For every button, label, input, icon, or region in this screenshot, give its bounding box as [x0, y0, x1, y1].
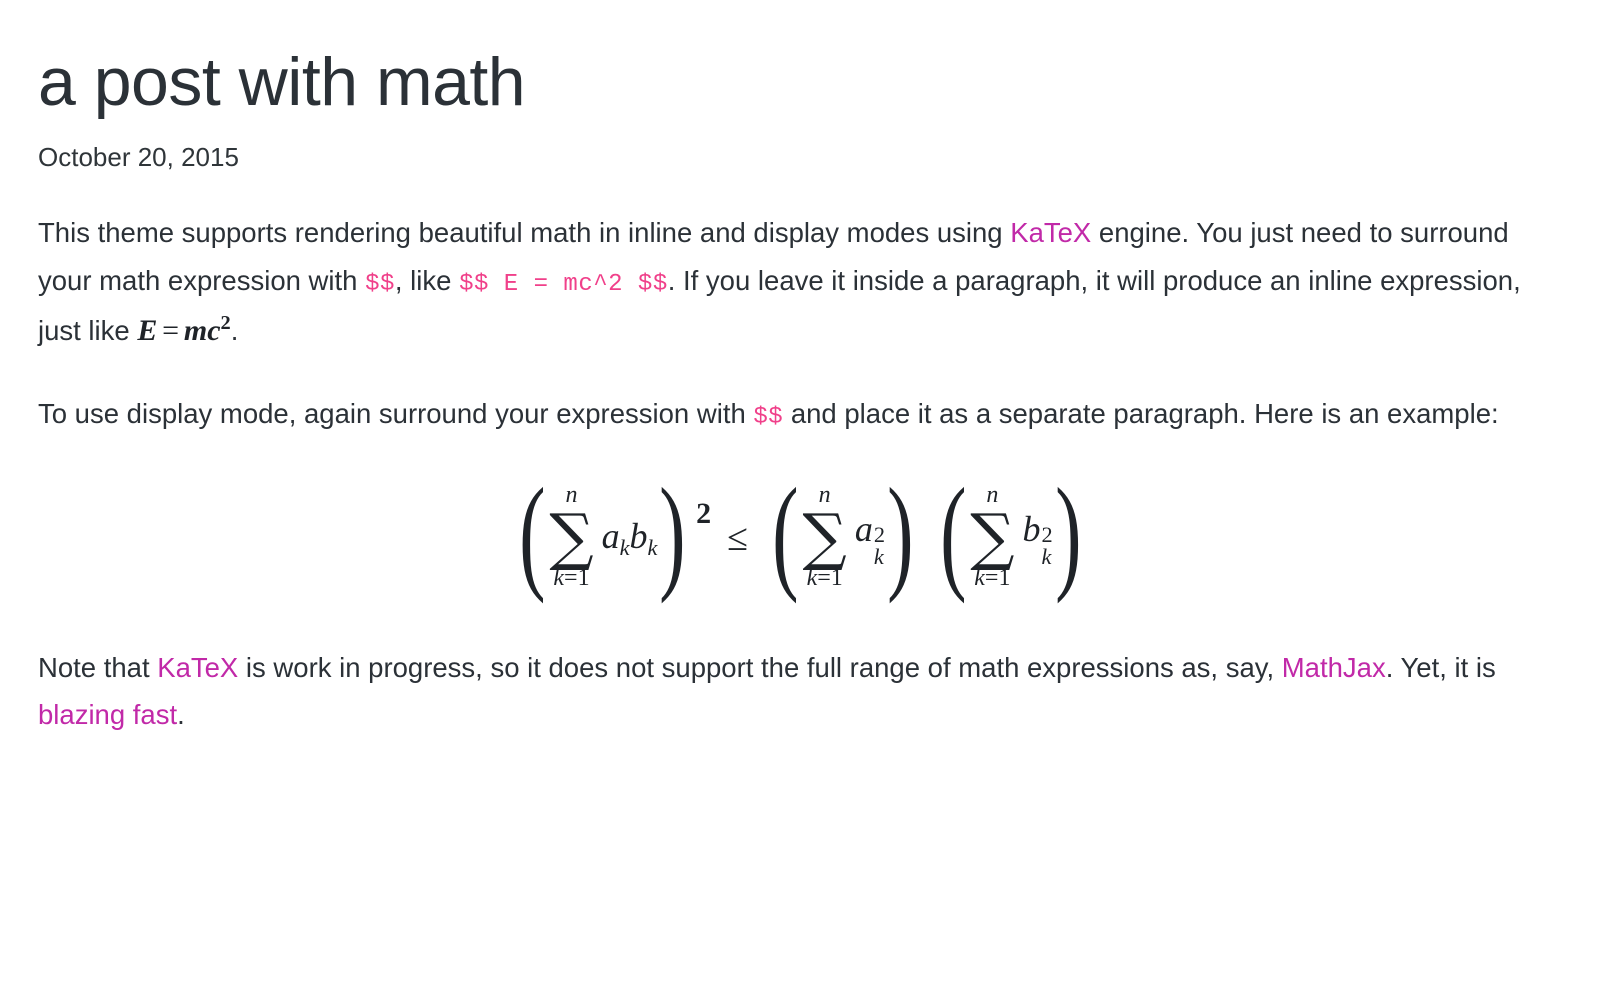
sigma-icon-3: ∑	[970, 508, 1014, 565]
display-math-block: ( n ∑ k=1 akbk ) 2 ≤ ( n ∑	[38, 473, 1562, 604]
math-group-left: ( n ∑ k=1 akbk ) 2	[511, 483, 711, 590]
sum-lower-limit-3: k=1	[974, 566, 1010, 590]
paragraph-intro: This theme supports rendering beautiful …	[38, 209, 1532, 356]
paren-left-3: (	[940, 494, 966, 573]
paren-right-2: )	[887, 494, 913, 573]
summation-1: n ∑ k=1	[549, 483, 593, 590]
code-dollars-2: $$	[753, 404, 783, 431]
katex-link[interactable]: KaTeX	[1010, 217, 1091, 248]
blazing-fast-link[interactable]: blazing fast	[38, 699, 177, 730]
math-group-right: ( n ∑ k=1 b2k )	[932, 483, 1090, 590]
paragraph3-part2: is work in progress, so it does not supp…	[238, 652, 1281, 683]
cauchy-schwarz-equation: ( n ∑ k=1 akbk ) 2 ≤ ( n ∑	[511, 483, 1090, 590]
summation-2: n ∑ k=1	[803, 483, 847, 590]
sum-lower-limit-2: k=1	[807, 566, 843, 590]
paragraph2-part2: and place it as a separate paragraph. He…	[783, 398, 1498, 429]
sigma-icon-1: ∑	[549, 508, 593, 565]
post-page: a post with math October 20, 2015 This t…	[0, 0, 1600, 738]
relation-leq: ≤	[727, 516, 748, 560]
mathjax-link[interactable]: MathJax	[1282, 652, 1386, 683]
code-dollars: $$	[365, 271, 395, 298]
paragraph3-part4: .	[177, 699, 185, 730]
katex-link-2[interactable]: KaTeX	[157, 652, 238, 683]
paragraph3-part1: Note that	[38, 652, 157, 683]
paragraph3-part3: . Yet, it is	[1386, 652, 1496, 683]
paren-right-3: )	[1055, 494, 1081, 573]
term-bk-squared: b2k	[1022, 508, 1052, 569]
paragraph1-part5: .	[231, 315, 239, 346]
paragraph-display-mode: To use display mode, again surround your…	[38, 390, 1532, 438]
paren-left-1: (	[519, 494, 545, 573]
paragraph2-part1: To use display mode, again surround your…	[38, 398, 753, 429]
paragraph1-part3: , like	[395, 265, 459, 296]
math-group-middle: ( n ∑ k=1 a2k )	[764, 483, 922, 590]
inline-math-emc2: E=mc2	[137, 314, 230, 347]
outer-exponent: 2	[696, 497, 711, 531]
term-akbk: akbk	[602, 515, 658, 561]
post-date: October 20, 2015	[38, 141, 1562, 175]
paren-left-2: (	[772, 494, 798, 573]
page-title: a post with math	[38, 46, 1562, 119]
post-body: This theme supports rendering beautiful …	[38, 209, 1562, 738]
paren-right-1: )	[660, 494, 686, 573]
sum-lower-limit-1: k=1	[553, 566, 589, 590]
paragraph1-part1: This theme supports rendering beautiful …	[38, 217, 1010, 248]
code-inline-example: $$ E = mc^2 $$	[459, 271, 668, 298]
summation-3: n ∑ k=1	[970, 483, 1014, 590]
sigma-icon-2: ∑	[803, 508, 847, 565]
paragraph-note: Note that KaTeX is work in progress, so …	[38, 644, 1532, 739]
term-ak-squared: a2k	[855, 508, 885, 569]
